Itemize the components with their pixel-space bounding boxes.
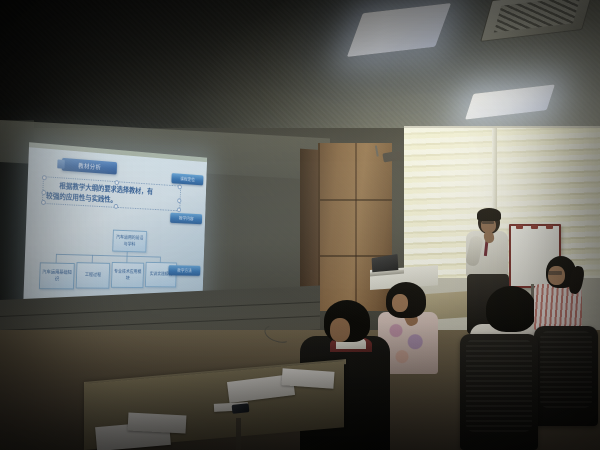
attendee-striped-shirt-face [548,266,565,285]
screen-surface: 教材分析 根据教学大纲的要求选择教材，有 较强的应用性与实践性。 [23,142,207,314]
phone-on-table [232,403,250,414]
attendee-dark-jacket-face [330,318,350,342]
attendee-floral-face [392,294,408,312]
paper-sheet [128,412,187,433]
projection-screen: 教材分析 根据教学大纲的要求选择教材，有 较强的应用性与实践性。 [23,142,207,314]
office-chair [460,334,538,450]
chair-mesh-back [466,339,532,432]
screen-sheen [23,142,207,314]
presenter-glasses [482,221,494,224]
presenter-hair [477,208,501,221]
classroom-photo: 教材分析 根据教学大纲的要求选择教材，有 较强的应用性与实践性。 [0,0,600,450]
attendee-white-shirt-hair [486,286,536,332]
paper-document [281,368,334,389]
chair-mesh-back [540,331,592,408]
office-chair [534,326,598,426]
table-leg [236,418,241,450]
attendee-glasses [548,271,562,275]
